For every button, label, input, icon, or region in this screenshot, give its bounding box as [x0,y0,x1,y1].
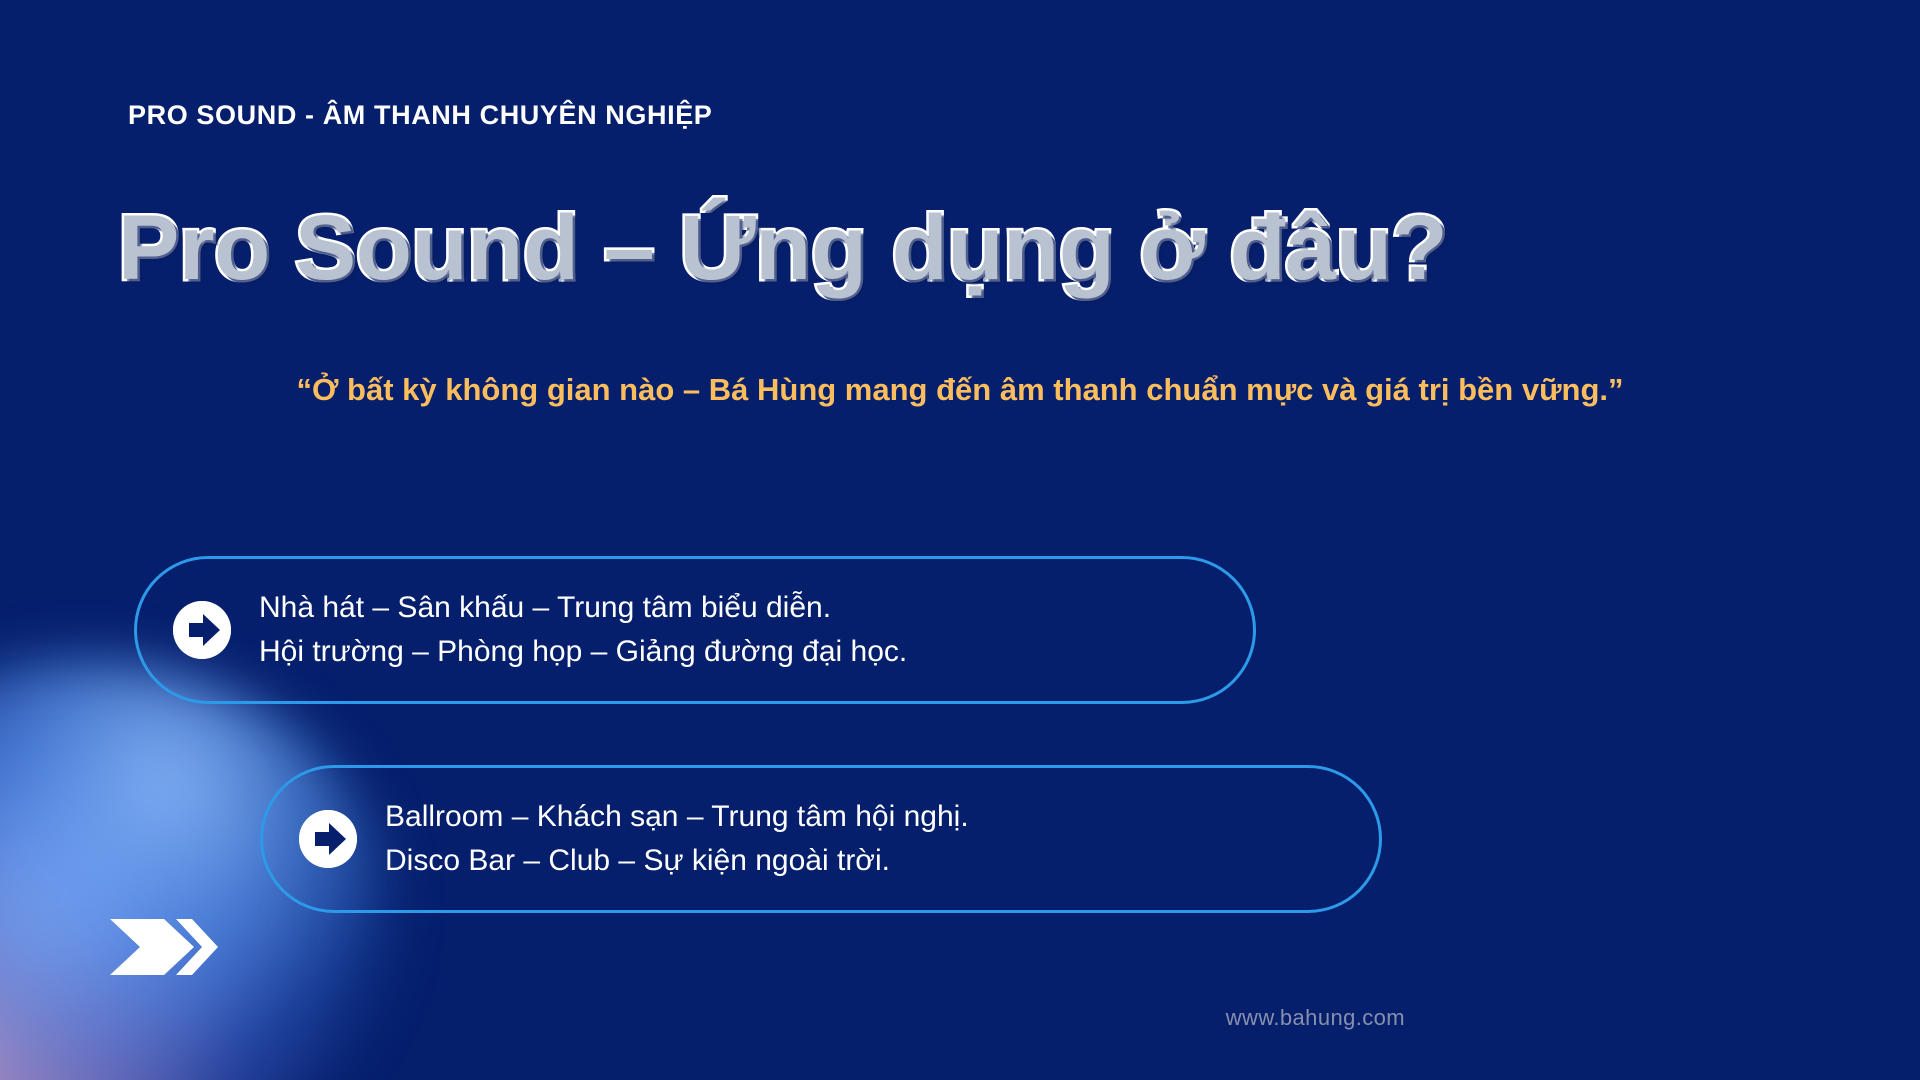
info-pill-1-text: Nhà hát – Sân khấu – Trung tâm biểu diễn… [259,586,907,674]
page-title: Pro Sound – Ứng dụng ở đâu? [118,196,1447,301]
info-pill-1[interactable]: Nhà hát – Sân khấu – Trung tâm biểu diễn… [134,556,1256,704]
eyebrow-label: PRO SOUND - ÂM THANH CHUYÊN NGHIỆP [128,100,712,131]
slide-root: PRO SOUND - ÂM THANH CHUYÊN NGHIỆP Pro S… [0,0,1920,1080]
footer-website-url[interactable]: www.bahung.com [1226,1005,1405,1031]
info-pill-2-text: Ballroom – Khách sạn – Trung tâm hội ngh… [385,795,969,883]
arrow-right-circle-icon [299,810,357,868]
tagline-quote: “Ở bất kỳ không gian nào – Bá Hùng mang … [0,372,1920,408]
info-pill-2-line-1: Ballroom – Khách sạn – Trung tâm hội ngh… [385,795,969,839]
info-pill-2[interactable]: Ballroom – Khách sạn – Trung tâm hội ngh… [260,765,1382,913]
gradient-blob-decoration-2 [0,720,280,1080]
info-pill-2-line-2: Disco Bar – Club – Sự kiện ngoài trời. [385,839,969,883]
arrow-right-circle-icon [173,601,231,659]
info-pill-1-line-2: Hội trường – Phòng họp – Giảng đường đại… [259,630,907,674]
info-pill-1-line-1: Nhà hát – Sân khấu – Trung tâm biểu diễn… [259,586,907,630]
double-chevron-right-icon [108,915,218,979]
